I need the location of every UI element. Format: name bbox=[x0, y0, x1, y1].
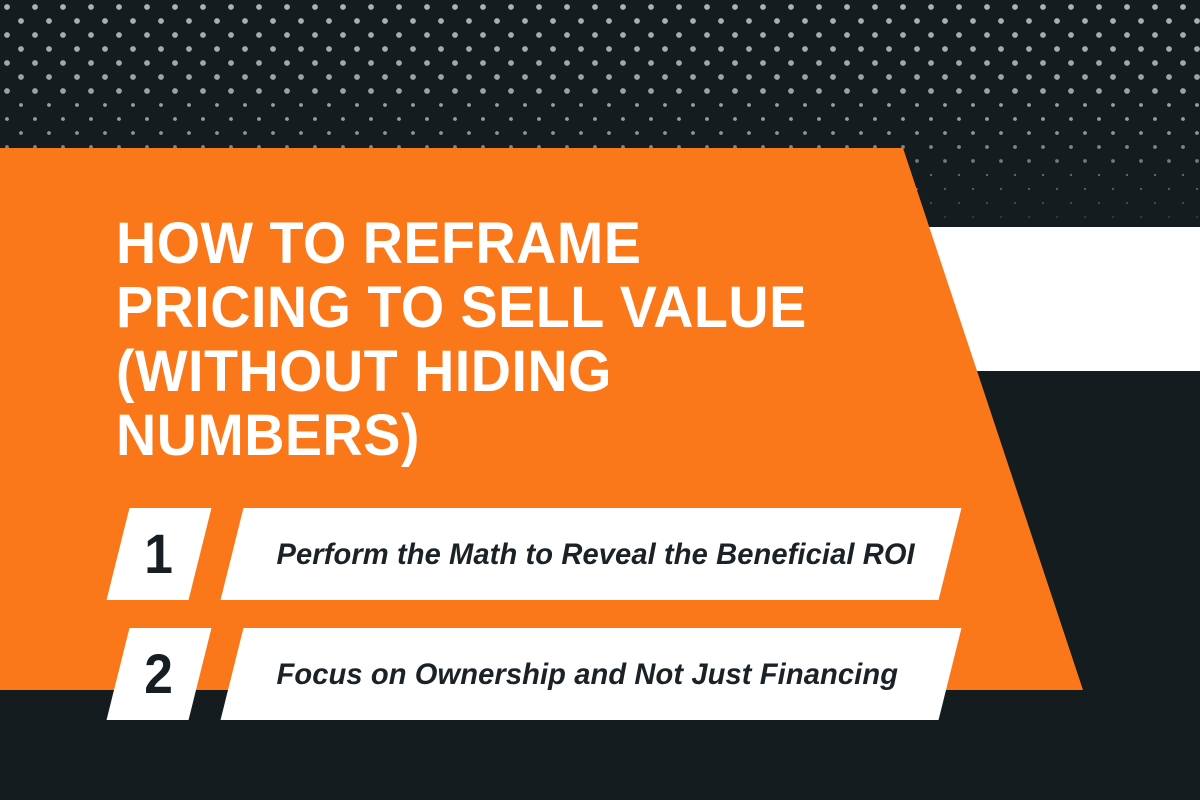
list-item-number: 1 bbox=[145, 526, 174, 582]
list-item-banner: Focus on Ownership and Not Just Financin… bbox=[221, 628, 962, 720]
list-item: 2 Focus on Ownership and Not Just Financ… bbox=[0, 628, 1000, 720]
list-item: 1 Perform the Math to Reveal the Benefic… bbox=[0, 508, 1000, 600]
title-line-1: HOW TO REFRAME bbox=[116, 212, 865, 276]
list-item-banner: Perform the Math to Reveal the Beneficia… bbox=[221, 508, 962, 600]
list-item-number-badge: 2 bbox=[107, 628, 212, 720]
list-item-number-badge: 1 bbox=[107, 508, 212, 600]
title-line-3: (WITHOUT HIDING bbox=[116, 340, 865, 404]
title-line-4: NUMBERS) bbox=[116, 404, 865, 468]
list-item-label: Perform the Math to Reveal the Beneficia… bbox=[232, 538, 915, 571]
list-item-number: 2 bbox=[145, 646, 174, 702]
poster-canvas: HOW TO REFRAME PRICING TO SELL VALUE (WI… bbox=[0, 0, 1200, 800]
page-title: HOW TO REFRAME PRICING TO SELL VALUE (WI… bbox=[116, 212, 896, 468]
list-item-label: Focus on Ownership and Not Just Financin… bbox=[232, 658, 898, 691]
title-line-2: PRICING TO SELL VALUE bbox=[116, 276, 865, 340]
